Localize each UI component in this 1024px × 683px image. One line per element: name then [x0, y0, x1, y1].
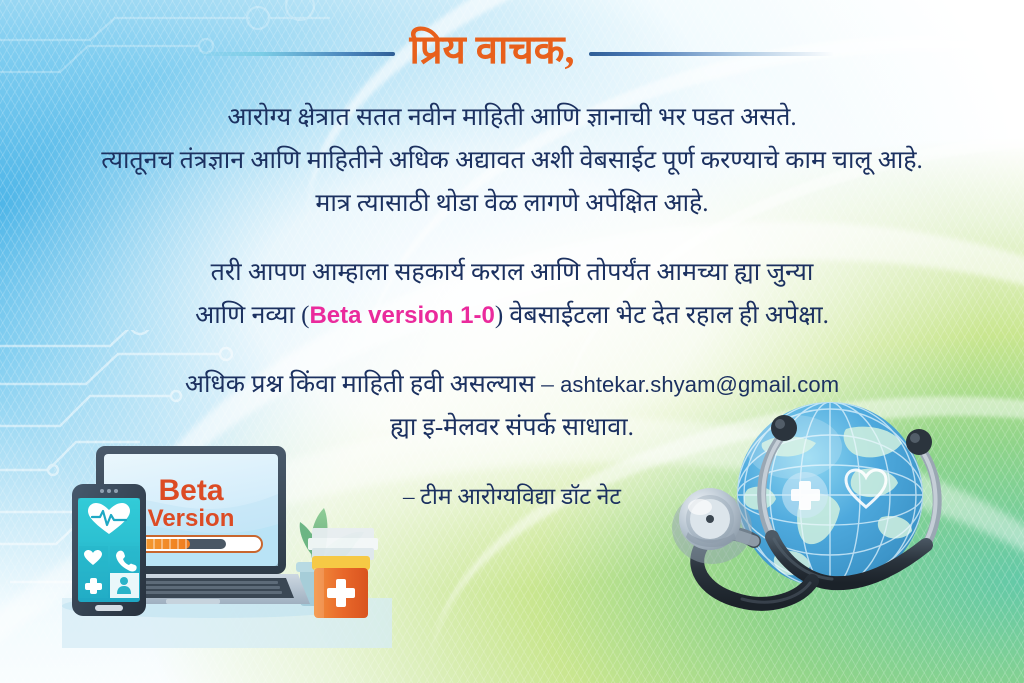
devices-illustration: Beta Version — [62, 438, 392, 648]
contact-prompt: अधिक प्रश्न किंवा माहिती हवी असल्यास – — [185, 371, 560, 398]
beta-version-label: Beta version 1-0 — [309, 302, 494, 329]
paragraph-spacer — [0, 337, 1024, 363]
paragraph-2-line-1: तरी आपण आम्हाला सहकार्य कराल आणि तोपर्यं… — [0, 251, 1024, 294]
medicine-bottle-icon — [312, 556, 370, 618]
notice-banner: प्रिय वाचक, आरोग्य क्षेत्रात सतत नवीन मा… — [0, 0, 1024, 683]
paragraph-2-line-2: आणि नव्या (Beta version 1-0) वेबसाईटला भ… — [0, 294, 1024, 337]
title-rule-right — [589, 52, 834, 56]
title-rule-left — [190, 52, 395, 56]
paragraph-spacer — [0, 225, 1024, 251]
paragraph-2-line-2-suffix: ) वेबसाईटला भेट देत रहाल ही अपेक्षा. — [495, 302, 829, 329]
laptop-screen-subtitle: Version — [148, 505, 235, 532]
medical-cross-icon — [782, 472, 828, 518]
paragraph-1-line-3: मात्र त्यासाठी थोडा वेळ लागणे अपेक्षित आ… — [0, 182, 1024, 225]
smartphone-icon — [72, 484, 146, 616]
title-row: प्रिय वाचक, — [0, 34, 1024, 74]
paragraph-2: तरी आपण आम्हाला सहकार्य कराल आणि तोपर्यं… — [0, 251, 1024, 337]
page-title: प्रिय वाचक, — [409, 30, 574, 70]
globe-stethoscope-illustration — [650, 385, 980, 635]
paragraph-2-line-2-prefix: आणि नव्या ( — [195, 302, 309, 329]
paragraph-1: आरोग्य क्षेत्रात सतत नवीन माहिती आणि ज्ञ… — [0, 96, 1024, 225]
laptop-screen-title: Beta — [158, 474, 223, 507]
paragraph-1-line-1: आरोग्य क्षेत्रात सतत नवीन माहिती आणि ज्ञ… — [0, 96, 1024, 139]
paragraph-1-line-2: त्यातूनच तंत्रज्ञान आणि माहितीने अधिक अद… — [0, 139, 1024, 182]
